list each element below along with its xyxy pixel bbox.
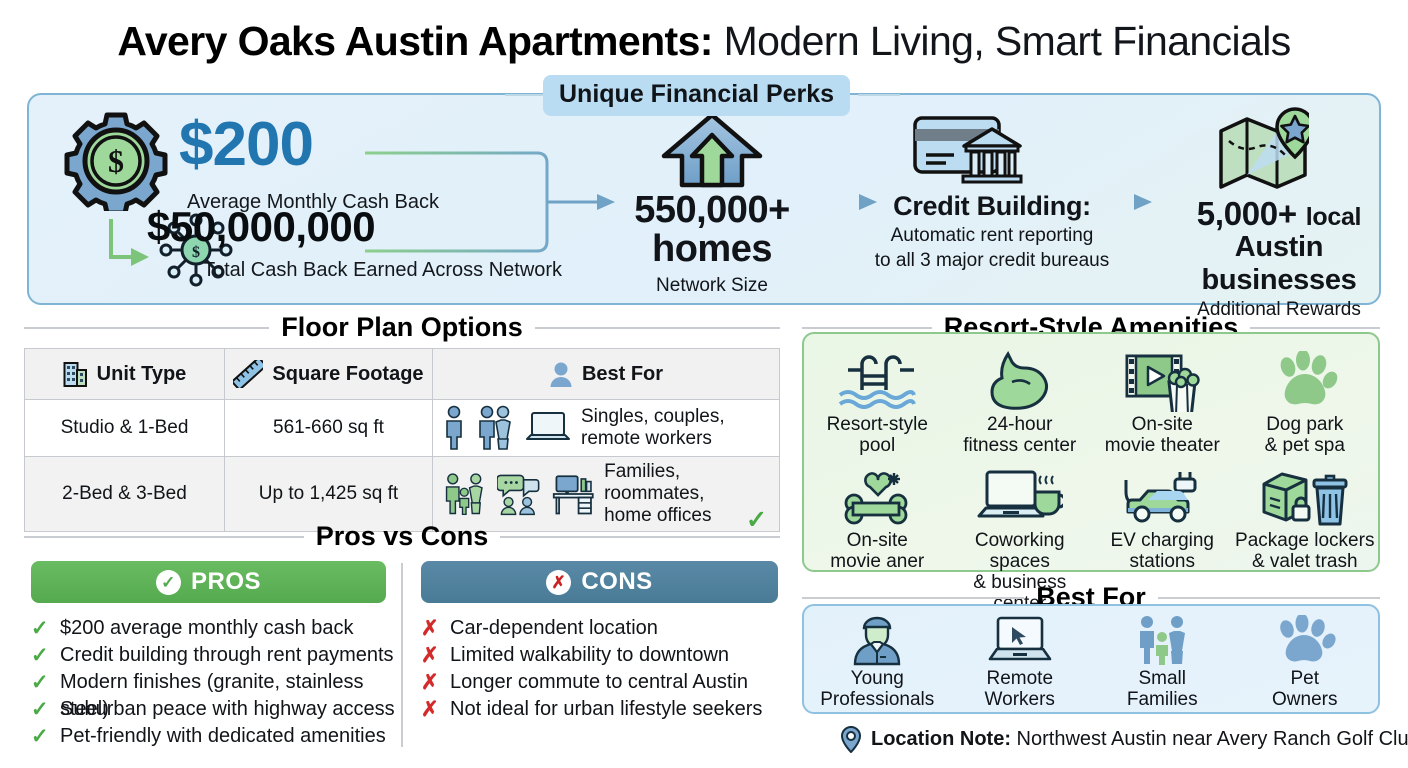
pool-ladder-icon [806, 348, 949, 414]
pros-cons-heading: Pros vs Cons [24, 521, 780, 552]
floor-plan-heading-text: Floor Plan Options [281, 312, 523, 343]
map-pin-icon [840, 726, 862, 753]
best-for-item: Small Families [1091, 612, 1234, 710]
package-lock-trash-icon [1234, 464, 1377, 530]
heading-rule-right [1250, 327, 1380, 329]
column-square-footage-label: Square Footage [272, 363, 423, 386]
family-group-icon [1091, 612, 1234, 668]
x-icon: ✗ [421, 642, 439, 669]
list-item: ✓$200 average monthly cash back [31, 615, 401, 642]
best-for-label: Pet Owners [1234, 668, 1377, 710]
hero-stat-credit: Credit Building: Automatic rent reportin… [867, 111, 1117, 272]
list-item: ✗Not ideal for urban lifestyle seekers [421, 696, 791, 723]
cons-item-text: Not ideal for urban lifestyle seekers [450, 696, 762, 723]
x-icon: ✗ [421, 669, 439, 696]
paw-print-icon [1234, 348, 1377, 414]
list-item: ✗Longer commute to central Austin [421, 669, 791, 696]
best-for-item: Young Professionals [806, 612, 949, 710]
laptop-cursor-icon [949, 612, 1092, 668]
dog-bone-heart-icon [806, 464, 949, 530]
person-icon [549, 361, 573, 388]
table-row: Studio & 1-Bed 561-660 sq ft [25, 400, 780, 457]
location-note-label: Location Note: [871, 728, 1011, 750]
gear-dollar-coin-icon: $ [57, 111, 175, 211]
column-unit-type: Unit Type [25, 349, 225, 400]
business-person-icon [806, 612, 949, 668]
pros-item-text: $200 average monthly cash back [60, 615, 354, 642]
stat-homes-caption: Network Size [607, 275, 817, 297]
best-for-label: Small Families [1091, 668, 1234, 710]
column-square-footage: Square Footage [225, 349, 433, 400]
amenity-label: 24-hour fitness center [949, 414, 1092, 456]
stat-biz-value-big: 5,000+ [1197, 195, 1297, 232]
amenity-label: Package lockers & valet trash [1234, 530, 1377, 572]
check-icon: ✓ [31, 696, 49, 723]
cons-list: ✗Car-dependent location ✗Limited walkabi… [421, 615, 791, 723]
heading-rule-left [24, 536, 304, 538]
home-office-desk-icon [552, 471, 595, 517]
amenity-label: Dog park & pet spa [1234, 414, 1377, 456]
ev-car-plug-icon [1091, 464, 1234, 530]
heading-rule-right [500, 536, 780, 538]
check-icon: ✓ [31, 615, 49, 642]
stat-credit-caption-2: to all 3 major credit bureaus [867, 249, 1117, 272]
ruler-icon [233, 360, 263, 388]
stat-homes-value-line1: 550,000+ [607, 191, 817, 230]
column-best-for-label: Best For [582, 363, 663, 386]
hero-badge-rule-right [858, 94, 900, 96]
page-title-light: Modern Living, Smart Financials [713, 18, 1291, 64]
list-item: ✓Modern finishes (granite, stainless ste… [31, 669, 401, 696]
pros-header-bar: ✓ PROS [31, 561, 386, 603]
couple-icon [475, 405, 515, 451]
x-circle-icon: ✗ [546, 570, 571, 595]
amenity-item: Dog park & pet spa [1234, 348, 1377, 456]
amenities-grid: Resort-style pool 24-hour fitness center [806, 348, 1376, 614]
stat-credit-caption-1: Automatic rent reporting [867, 224, 1117, 247]
hero-badge-rule-left [505, 94, 547, 96]
cell-best-for: Singles, couples, remote workers [433, 400, 780, 457]
check-icon: ✓ [31, 642, 49, 669]
stat-homes-value-line2: homes [607, 230, 817, 269]
hero-stat-businesses: 5,000+ local Austin businesses Additiona… [1154, 111, 1404, 321]
cons-item-text: Limited walkability to downtown [450, 642, 729, 669]
list-item: ✗Car-dependent location [421, 615, 791, 642]
best-for-grid: Young Professionals Remote Workers [806, 612, 1376, 710]
list-item: ✓Suburban peace with highway access [31, 696, 401, 723]
unique-financial-perks-panel: $ $200 Average Monthly Cash Back [27, 93, 1381, 305]
stat-total-cashback-value: $50,000,000 [147, 205, 375, 249]
stat-biz-value-small: local [1306, 203, 1361, 231]
roommates-chat-icon [497, 470, 541, 518]
hero-badge: Unique Financial Perks [543, 75, 850, 116]
pros-item-text: Credit building through rent payments [60, 642, 394, 669]
cell-unit-type: Studio & 1-Bed [25, 400, 225, 457]
flexed-bicep-icon [949, 348, 1092, 414]
table-header-row: Unit Type Square Footage [25, 349, 780, 400]
heading-rule-right [535, 327, 780, 329]
floor-plan-heading: Floor Plan Options [24, 312, 780, 343]
amenity-item: On-site movie theater [1091, 348, 1234, 456]
check-icon: ✓ [31, 669, 49, 696]
single-person-icon [443, 405, 465, 451]
pros-item-text: Pet-friendly with dedicated amenities [60, 723, 386, 750]
page-title-strong: Avery Oaks Austin Apartments: [117, 18, 713, 64]
list-item: ✓Credit building through rent payments [31, 642, 401, 669]
cons-label: CONS [581, 568, 652, 596]
pros-item-text: Suburban peace with highway access [60, 696, 395, 723]
amenity-label: EV charging stations [1091, 530, 1234, 572]
list-item: ✓Pet-friendly with dedicated amenities [31, 723, 401, 750]
svg-text:$: $ [108, 143, 124, 179]
best-for-label: Remote Workers [949, 668, 1092, 710]
laptop-icon [525, 410, 571, 446]
x-icon: ✗ [421, 615, 439, 642]
cons-item-text: Longer commute to central Austin [450, 669, 748, 696]
cell-best-for-text: Families, roommates, home offices [604, 461, 765, 527]
list-item: ✗Limited walkability to downtown [421, 642, 791, 669]
stat-credit-heading: Credit Building: [867, 191, 1117, 222]
cons-header-bar: ✗ CONS [421, 561, 778, 603]
page-title: Avery Oaks Austin Apartments: Modern Liv… [0, 12, 1408, 70]
pros-list: ✓$200 average monthly cash back ✓Credit … [31, 615, 401, 750]
pros-cons-divider [401, 563, 403, 747]
location-note: Location Note: Northwest Austin near Ave… [840, 726, 1408, 753]
column-unit-type-label: Unit Type [97, 363, 187, 386]
amenity-item: 24-hour fitness center [949, 348, 1092, 456]
stat-cashback-value: $200 [179, 113, 313, 177]
film-popcorn-icon [1091, 348, 1234, 414]
family-icon [443, 470, 487, 518]
pros-label: PROS [191, 568, 261, 596]
cell-best-for-text: Singles, couples, remote workers [581, 406, 725, 450]
best-for-label: Young Professionals [806, 668, 949, 710]
floor-plan-table: Unit Type Square Footage [24, 348, 780, 532]
location-note-text: Northwest Austin near Avery Ranch Golf C… [1011, 728, 1408, 750]
check-icon: ✓ [31, 723, 49, 750]
best-for-item: Pet Owners [1234, 612, 1377, 710]
cons-item-text: Car-dependent location [450, 615, 658, 642]
pros-cons-heading-text: Pros vs Cons [316, 521, 489, 552]
amenity-label: Resort-style pool [806, 414, 949, 456]
stat-total-cashback-caption: Total Cash Back Earned Across Network [203, 259, 562, 282]
laptop-coffee-icon [949, 464, 1092, 530]
heading-rule-left [802, 327, 932, 329]
hero-stat-homes: 550,000+ homes Network Size [607, 111, 817, 297]
stat-biz-value-line2: Austin businesses [1154, 231, 1404, 297]
amenity-item: Resort-style pool [806, 348, 949, 456]
heading-rule-right [1158, 597, 1380, 599]
heading-rule-left [24, 327, 269, 329]
infographic-page: Avery Oaks Austin Apartments: Modern Liv… [0, 0, 1408, 768]
amenity-label: On-site movie theater [1091, 414, 1234, 456]
check-circle-icon: ✓ [156, 570, 181, 595]
cell-square-footage: 561-660 sq ft [225, 400, 433, 457]
x-icon: ✗ [421, 696, 439, 723]
best-for-item: Remote Workers [949, 612, 1092, 710]
paw-print-icon [1234, 612, 1377, 668]
building-icon [63, 361, 88, 388]
heading-rule-left [802, 597, 1024, 599]
hero-stat-group-left: $ $200 Average Monthly Cash Back [51, 109, 551, 289]
column-best-for: Best For [433, 349, 780, 400]
amenity-label: On-site movie aner [806, 530, 949, 572]
